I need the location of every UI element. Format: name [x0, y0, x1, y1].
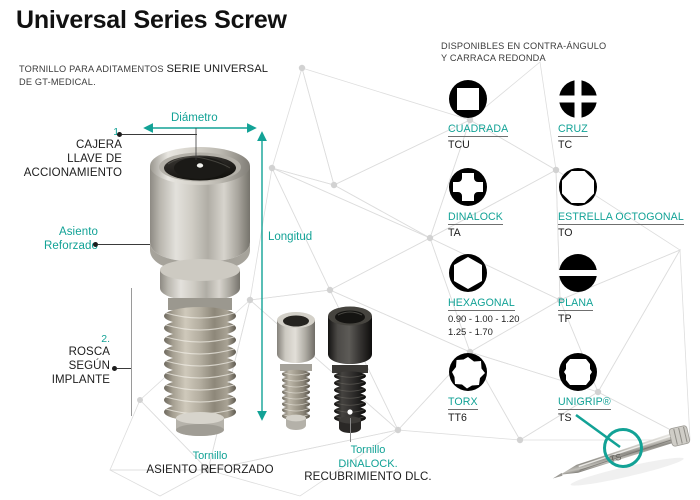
cross-drive-icon [558, 79, 598, 119]
caption-dinalock-screw: Tornillo DINALOCK. RECUBRIMIENTO DLC. [288, 444, 448, 485]
drive-name-cruz: CRUZ [558, 123, 588, 137]
callout-rosca-number: 2. [0, 333, 110, 345]
drive-code-unigrip: TS [558, 412, 611, 424]
callout-asiento-line1: Asiento [0, 225, 98, 239]
drive-name-estrella: ESTRELLA OCTOGONAL [558, 211, 684, 225]
drive-option-cuadrada[interactable]: CUADRADA TCU [448, 79, 508, 151]
callout-rosca: 2. ROSCA SEGÚN IMPLANTE [0, 333, 110, 387]
caption-main-line1: Tornillo [120, 450, 300, 464]
drive-code-plana: TP [558, 313, 598, 325]
caption-dina-line1: Tornillo [288, 444, 448, 458]
unigrip-drive-icon [558, 352, 598, 392]
intro-text: TORNILLO PARA ADITAMENTOS SERIE UNIVERSA… [19, 63, 269, 89]
drive-option-torx[interactable]: TORX TT6 [448, 352, 488, 424]
drive-option-plana[interactable]: PLANA TP [558, 253, 598, 325]
torx-drive-icon [448, 352, 488, 392]
slot-drive-icon [558, 253, 598, 293]
dinalock-drive-icon [448, 167, 488, 207]
drive-code-hexagonal: 0.90 - 1.00 - 1.20 [448, 313, 519, 324]
callout-rosca-line1: ROSCA [0, 345, 110, 359]
octagon-drive-icon [558, 167, 598, 207]
drive-option-cruz[interactable]: CRUZ TC [558, 79, 598, 151]
caption-main-line2: ASIENTO REFORZADO [120, 464, 300, 478]
callout-asiento: Asiento Reforzado [0, 225, 98, 253]
diameter-label: Diámetro [171, 112, 218, 124]
hexagon-drive-icon [448, 253, 488, 293]
callout-rosca-bracket [131, 288, 132, 416]
drive-name-torx: TORX [448, 396, 478, 410]
drive-code-dinalock: TA [448, 227, 503, 239]
length-label: Longitud [268, 231, 312, 243]
intro-line1-prefix: TORNILLO PARA ADITAMENTOS [19, 64, 164, 74]
drive-name-plana: PLANA [558, 297, 593, 311]
callout-rosca-leader [117, 368, 131, 369]
panel-heading-line2: Y CARRACA REDONDA [441, 53, 606, 65]
page-title: Universal Series Screw [16, 6, 287, 35]
callout-asiento-dot [93, 242, 98, 247]
caption-dina-line3: RECUBRIMIENTO DLC. [288, 471, 448, 485]
drive-code-cruz: TC [558, 139, 598, 151]
callout-asiento-leader [98, 244, 150, 245]
callout-rosca-dot [112, 366, 117, 371]
callout-cajera-leader [122, 134, 197, 135]
drive-code-torx: TT6 [448, 412, 488, 424]
caption-dina-leader [350, 418, 351, 442]
drive-name-hexagonal: HEXAGONAL [448, 297, 515, 311]
drive-code-estrella: TO [558, 227, 684, 239]
callout-cajera-dot [117, 132, 122, 137]
intro-line1-strong: SERIE UNIVERSAL [166, 63, 268, 75]
drive-option-dinalock[interactable]: DINALOCK TA [448, 167, 503, 239]
infographic-page: Universal Series Screw TORNILLO PARA ADI… [0, 0, 700, 500]
drive-name-dinalock: DINALOCK [448, 211, 503, 225]
callout-rosca-line3: IMPLANTE [0, 373, 110, 387]
callout-cajera-line2: LLAVE DE [0, 152, 122, 166]
callout-cajera-number: 1. [0, 126, 122, 138]
callout-rosca-line2: SEGÚN [0, 359, 110, 373]
drive-option-unigrip[interactable]: UNIGRIP® TS [558, 352, 611, 424]
drive-option-estrella-octogonal[interactable]: ESTRELLA OCTOGONAL TO [558, 167, 684, 239]
callout-cajera-line3: ACCIONAMIENTO [0, 166, 122, 180]
drive-name-cuadrada: CUADRADA [448, 123, 508, 137]
drive-option-hexagonal[interactable]: HEXAGONAL 0.90 - 1.00 - 1.20 1.25 - 1.70 [448, 253, 519, 337]
panel-heading-line1: DISPONIBLES EN CONTRA-ÁNGULO [441, 41, 606, 53]
square-drive-icon [448, 79, 488, 119]
caption-main-screw: Tornillo ASIENTO REFORZADO [120, 450, 300, 477]
panel-heading: DISPONIBLES EN CONTRA-ÁNGULO Y CARRACA R… [441, 41, 606, 64]
callout-cajera-line1: CAJERA [0, 138, 122, 152]
drive-code-hexagonal-2: 1.25 - 1.70 [448, 326, 519, 337]
callout-asiento-line2: Reforzado [0, 239, 98, 253]
intro-line2: DE GT-MEDICAL. [19, 76, 269, 89]
caption-dina-line2: DINALOCK. [288, 458, 448, 472]
callout-cajera: 1. CAJERA LLAVE DE ACCIONAMIENTO [0, 126, 122, 180]
drive-name-unigrip: UNIGRIP® [558, 396, 611, 410]
drive-code-cuadrada: TCU [448, 139, 508, 151]
